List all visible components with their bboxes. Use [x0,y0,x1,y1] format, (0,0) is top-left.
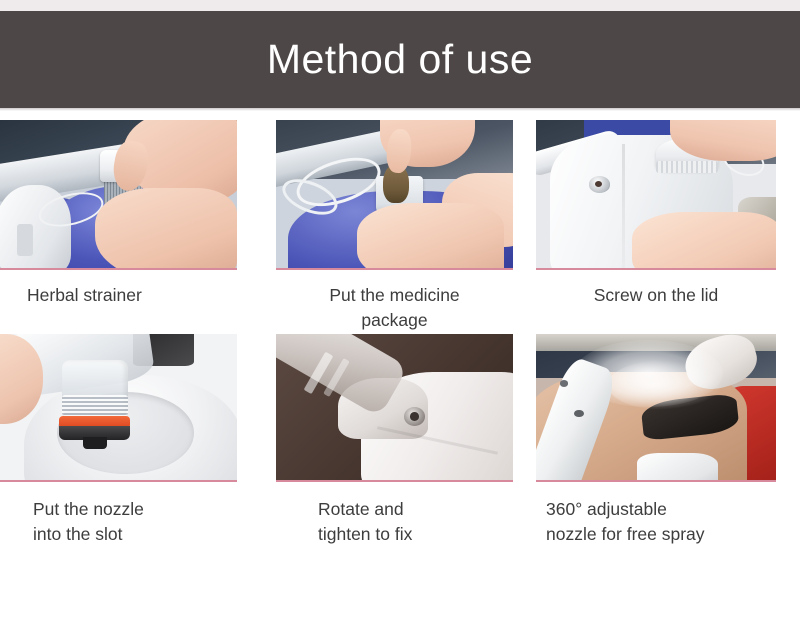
step-6-photo [536,334,776,482]
arm-fitting [560,380,568,386]
step-card-3: Screw on the lid [524,120,800,334]
step-6-caption: 360° adjustable nozzle for free spray [536,482,776,548]
steps-row-2: Put the nozzle into the slot Rotate and … [0,334,800,548]
step-4-caption: Put the nozzle into the slot [0,482,237,548]
step-card-6: 360° adjustable nozzle for free spray [524,334,800,548]
step-card-1: Herbal strainer [0,120,262,334]
step-card-5: Rotate and tighten to fix [262,334,524,548]
nozzle-tab [83,437,107,449]
body-seam [622,144,625,268]
device-base [637,453,719,481]
step-1-caption: Herbal strainer [0,270,237,308]
lid-thread-ring [656,161,718,173]
product-instruction-page: Method of use [0,0,800,623]
step-1-photo [0,120,237,270]
steps-row-1: Herbal strainer Put the medicine packa [0,120,800,334]
lower-hand [95,188,237,270]
screw-head [410,412,419,421]
step-5-photo [276,334,513,482]
step-3-caption: Screw on the lid [536,270,776,308]
nozzle-threads [62,395,128,415]
steam-cloud-inner [608,360,723,410]
step-5-caption: Rotate and tighten to fix [276,482,513,548]
lower-hand [632,212,776,270]
steamer-slot [17,224,34,257]
step-card-4: Put the nozzle into the slot [0,334,262,548]
page-title: Method of use [267,39,533,80]
steps-grid: Herbal strainer Put the medicine packa [0,120,800,548]
step-card-2: Put the medicine package [262,120,524,334]
top-strip [0,0,800,11]
step-2-photo [276,120,513,270]
step-2-caption: Put the medicine package [276,270,513,334]
header-banner: Method of use [0,11,800,108]
step-3-photo [536,120,776,270]
step-4-photo [0,334,237,482]
banner-shadow [0,108,800,111]
lower-hand [357,203,504,270]
arm-fitting [574,410,584,417]
